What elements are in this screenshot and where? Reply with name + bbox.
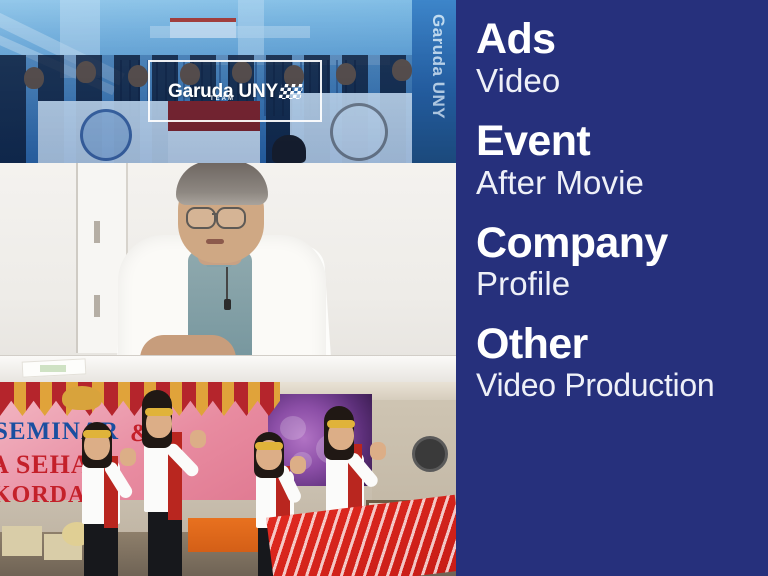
eyeglasses-icon (216, 207, 246, 229)
dancer-hand (370, 442, 386, 460)
dancer-hand (290, 456, 306, 474)
door-hinge (94, 221, 100, 243)
service-title-company: Company (476, 222, 762, 266)
garuda-uny-logo-frame: Garuda UNY TEAM (148, 60, 322, 122)
dancer-hand (190, 430, 206, 448)
door-hinge (94, 295, 100, 317)
photo-dance-performance: SEMINAR & A SEHAT KORDA (0, 382, 456, 576)
service-title-event: Event (476, 120, 762, 164)
banner-line-3: KORDA (0, 482, 86, 509)
service-title-ads: Ads (476, 18, 762, 62)
photo-doctor-interview (0, 163, 456, 382)
microphone-wire (226, 267, 228, 301)
lapel-microphone-icon (224, 299, 231, 310)
garuda-crest-icon (62, 386, 102, 410)
projection-blob (280, 416, 306, 440)
stage-table (188, 518, 262, 552)
service-subtitle-other: Video Production (476, 368, 762, 404)
checkered-flag-icon (278, 84, 303, 99)
banner-valance-decoration (0, 382, 280, 416)
service-subtitle-company: Profile (476, 266, 762, 303)
service-entry-other[interactable]: Other Video Production (456, 323, 768, 404)
service-list-panel: Ads Video Event After Movie Company Prof… (456, 0, 768, 576)
doctor-mouth (206, 239, 224, 244)
dancer-headband (255, 442, 283, 450)
eyeglasses-icon (186, 207, 216, 229)
service-subtitle-ads: Video (476, 63, 762, 100)
slide-root: Garuda UNY Garuda UNY TEAM (0, 0, 768, 576)
dancer-headband (83, 430, 111, 438)
garuda-uny-logo-subtext: TEAM (210, 96, 235, 102)
service-entry-company[interactable]: Company Profile (456, 222, 768, 304)
dancer-headband (327, 420, 355, 428)
photo-garuda-uny-team: Garuda UNY Garuda UNY TEAM (0, 0, 456, 163)
service-entry-ads[interactable]: Ads Video (456, 18, 768, 100)
dancer-hand (120, 448, 136, 466)
dancer-headband (145, 408, 173, 416)
service-subtitle-event: After Movie (476, 165, 762, 202)
wall-fan-icon (412, 436, 448, 472)
event-banner: SEMINAR & A SEHAT KORDA (0, 382, 268, 500)
service-title-other: Other (476, 323, 762, 367)
media-column: Garuda UNY Garuda UNY TEAM (0, 0, 456, 576)
stage-prop-box (2, 526, 42, 556)
eyeglasses-bridge (212, 213, 218, 215)
doctor-hair (176, 163, 268, 205)
service-entry-event[interactable]: Event After Movie (456, 120, 768, 202)
desk-paper-green (40, 365, 66, 372)
